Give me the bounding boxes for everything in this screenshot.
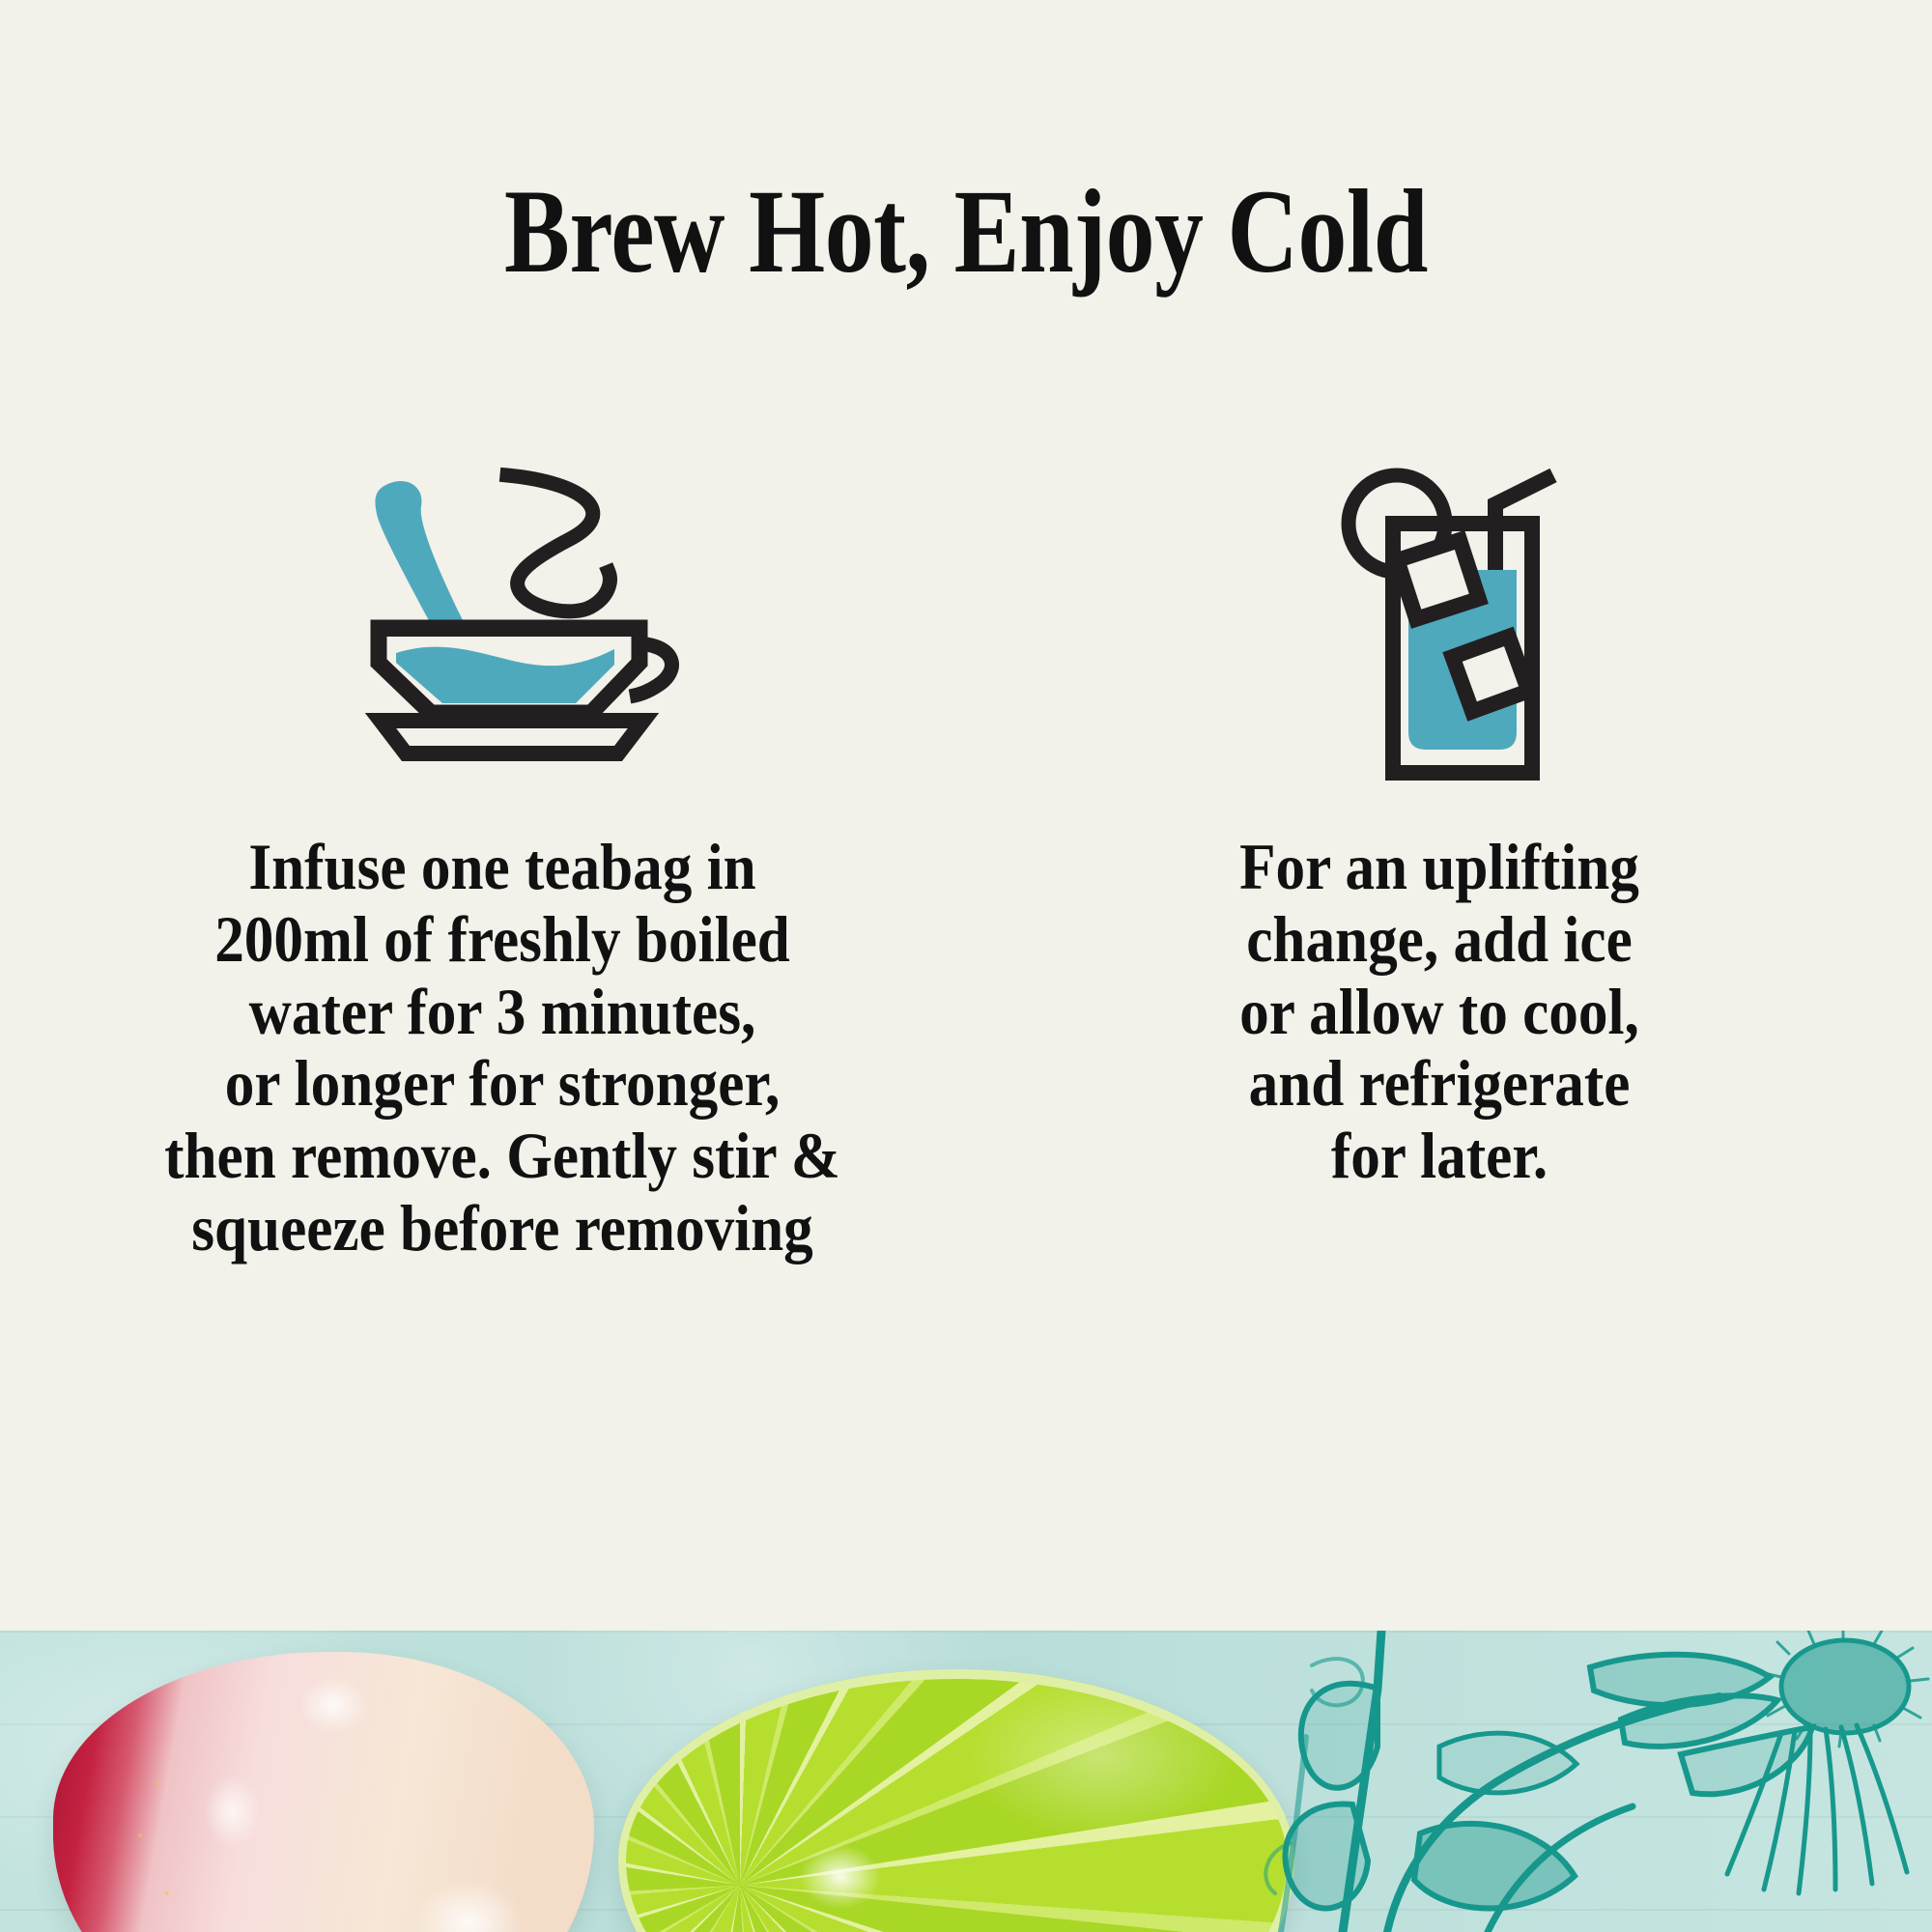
teacup-with-spoon-and-steam-icon [328, 464, 696, 782]
strawberry-seeds [111, 1690, 237, 1932]
column-hot: Infuse one teabag in 200ml of freshly bo… [58, 464, 947, 1264]
column-cold: For an uplifting change, add ice or allo… [1005, 464, 1874, 1192]
echinacea-botanical-illustration [1198, 1631, 1932, 1932]
poster-root: Brew Hot, Enjoy Cold Infuse one teaba [0, 0, 1932, 1932]
lime-slice-photo [618, 1669, 1294, 1932]
iced-drink-glass-icon [1323, 464, 1613, 782]
hot-brew-instructions: Infuse one teabag in 200ml of freshly bo… [102, 831, 902, 1264]
teacup-icon-container [58, 464, 956, 782]
iced-glass-icon-container [1005, 464, 1903, 782]
cold-brew-instructions: For an uplifting change, add ice or allo… [1048, 831, 1831, 1192]
page-title: Brew Hot, Enjoy Cold [174, 172, 1758, 292]
fruit-and-botanical-photo-strip [0, 1631, 1932, 1932]
